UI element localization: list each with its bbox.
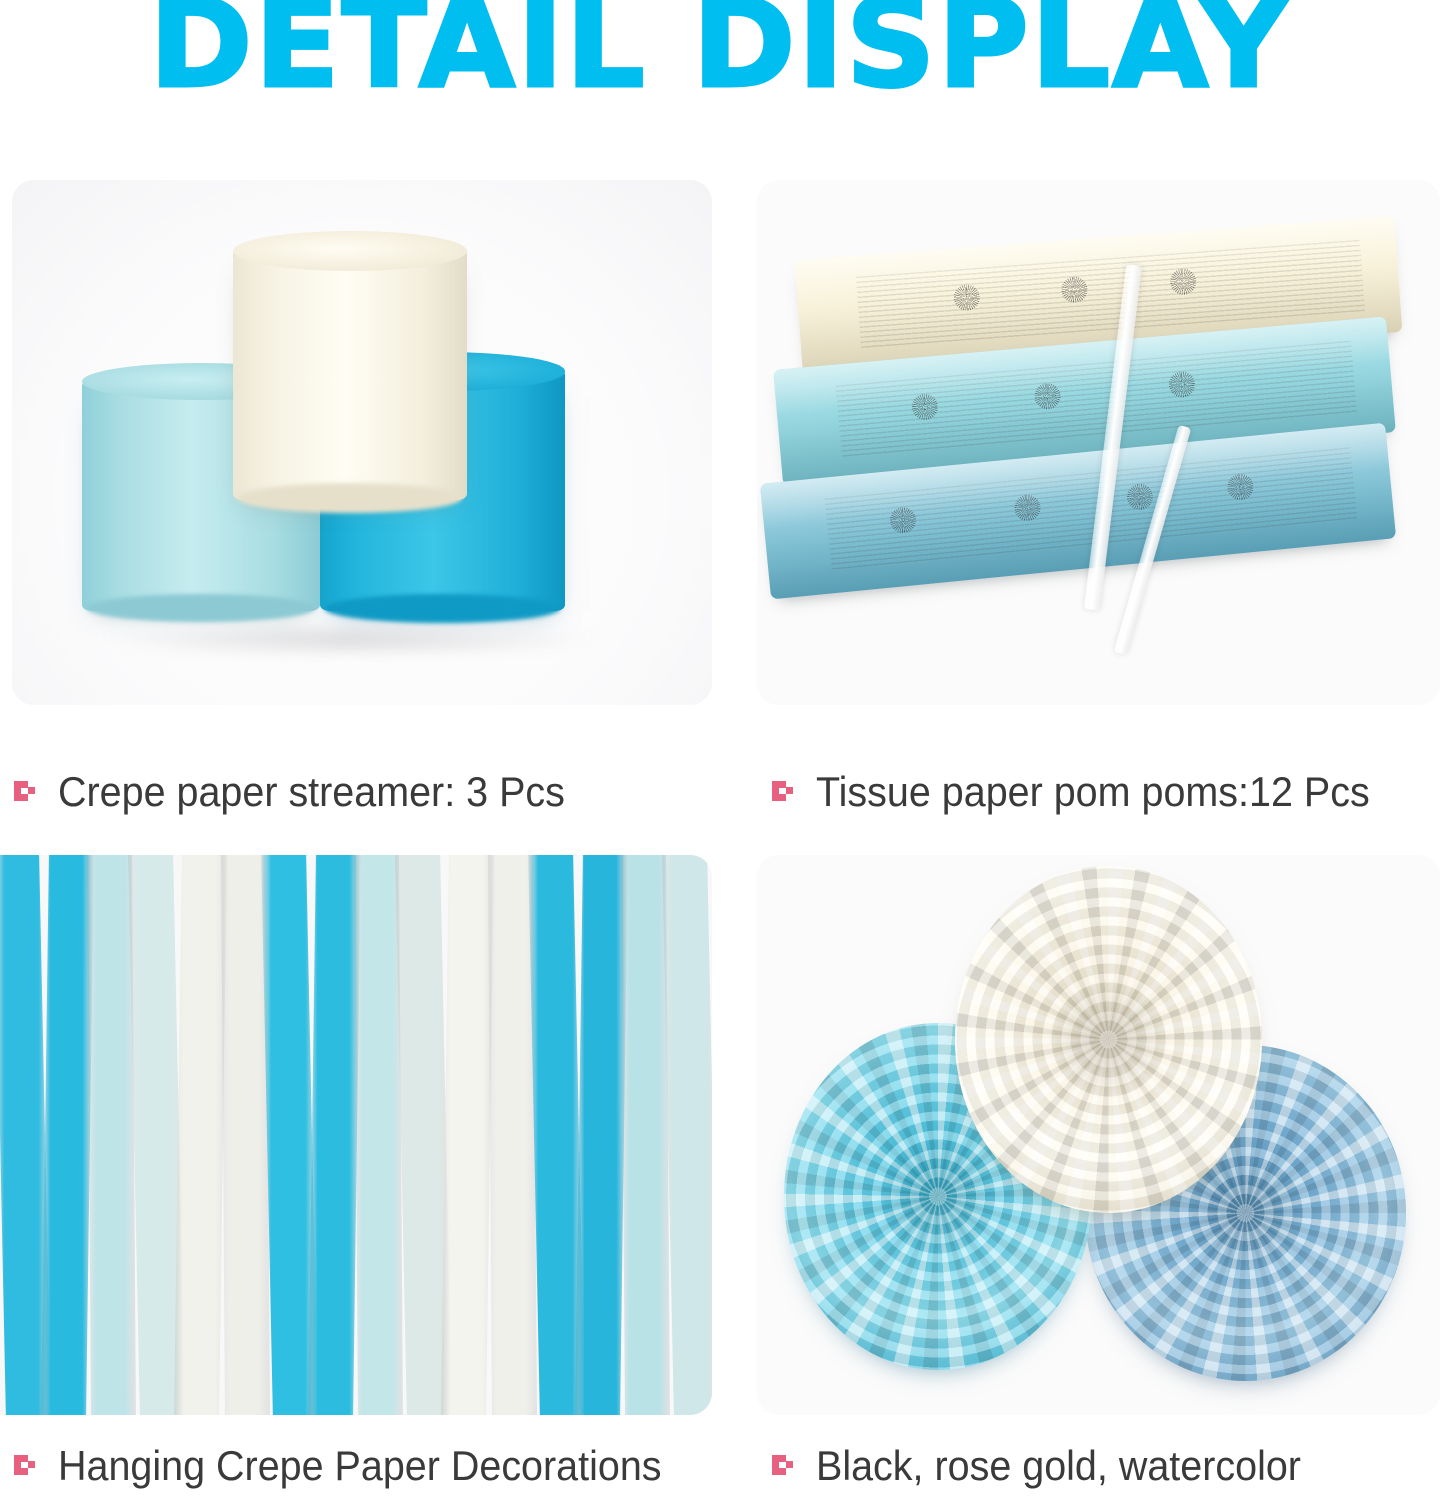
roll-group-shadow bbox=[96, 621, 600, 658]
streamer-strip bbox=[488, 855, 536, 1415]
photo-packaged-tissue-bundles bbox=[757, 180, 1440, 705]
streamer-strip bbox=[354, 855, 402, 1415]
photo-panel-streamers bbox=[0, 855, 712, 1415]
caption-hanging-crepe-paper-decorations: Hanging Crepe Paper Decorations bbox=[14, 1442, 700, 1490]
detail-display-page: DETAIL DISPLAY Crepe paper streamer: 3 P… bbox=[0, 0, 1440, 1500]
streamer-strip bbox=[621, 855, 669, 1415]
crepe-roll-cream bbox=[233, 248, 468, 500]
caption-pom-pom-colors: Black, rose gold, watercolor bbox=[772, 1442, 1332, 1490]
photo-panel-crepe-rolls bbox=[12, 180, 712, 705]
streamer-strip bbox=[221, 855, 269, 1415]
caption-label: Crepe paper streamer: 3 Pcs bbox=[58, 768, 565, 816]
caption-label: Tissue paper pom poms:12 Pcs bbox=[816, 768, 1370, 816]
pom-pom-cream bbox=[955, 866, 1262, 1213]
pink-arrow-bullet-icon bbox=[14, 1453, 36, 1479]
streamer-strip bbox=[441, 855, 493, 1415]
streamer-strip bbox=[41, 855, 93, 1415]
clipped-text-artifact-left: Crepe paper streamer: 3 Pcs bbox=[64, 750, 578, 756]
photo-cell-pom-pom-colors bbox=[757, 855, 1440, 1415]
streamer-strip bbox=[308, 855, 360, 1415]
streamer-strip bbox=[174, 855, 226, 1415]
caption-tissue-paper-pom-poms: Tissue paper pom poms:12 Pcs bbox=[772, 768, 1405, 816]
photo-cell-tissue-paper-pom-poms bbox=[757, 180, 1440, 705]
streamer-strip bbox=[575, 855, 627, 1415]
pink-arrow-bullet-icon bbox=[772, 779, 794, 805]
clipped-text-artifact-right: Tissue paper pom poms:12 Pcs bbox=[818, 750, 1379, 756]
photo-hanging-streamers bbox=[0, 855, 712, 1415]
caption-label: Hanging Crepe Paper Decorations bbox=[58, 1442, 662, 1490]
page-title: DETAIL DISPLAY bbox=[149, 0, 1291, 110]
photo-tissue-pom-poms bbox=[757, 855, 1440, 1415]
caption-label: Black, rose gold, watercolor bbox=[816, 1442, 1301, 1490]
photo-cell-crepe-paper-streamer bbox=[12, 180, 712, 705]
photo-cell-hanging-crepe-paper-decorations bbox=[0, 855, 712, 1415]
page-title-banner: DETAIL DISPLAY bbox=[0, 0, 1440, 118]
photo-crepe-paper-rolls bbox=[12, 180, 712, 705]
streamer-strip bbox=[662, 855, 712, 1415]
streamer-strip bbox=[87, 855, 135, 1415]
pink-arrow-bullet-icon bbox=[772, 1453, 794, 1479]
photo-panel-pom-poms bbox=[757, 855, 1440, 1415]
caption-crepe-paper-streamer: Crepe paper streamer: 3 Pcs bbox=[14, 768, 597, 816]
pink-arrow-bullet-icon bbox=[14, 779, 36, 805]
photo-panel-packaged-bundles bbox=[757, 180, 1440, 705]
